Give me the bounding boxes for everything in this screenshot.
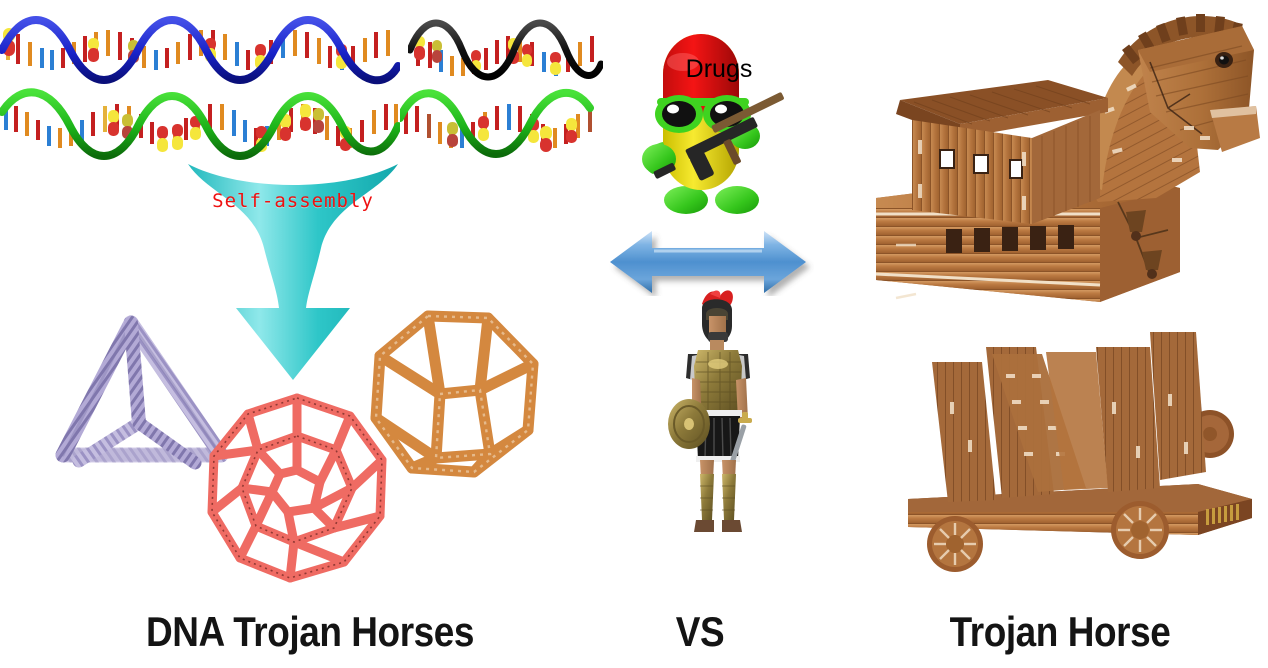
wheel-front (1111, 501, 1169, 559)
wooden-trojan-horse (850, 2, 1268, 577)
sandal-right (722, 520, 742, 532)
comparison-double-arrow (608, 228, 814, 296)
trojan-soldier-figure (662, 288, 774, 546)
horse-legs (932, 332, 1206, 502)
dna-polyhedral-cage-structure (368, 306, 543, 484)
horse-eye (1215, 52, 1233, 68)
dna-buckyball-structure (202, 392, 392, 584)
figure-canvas: Self-assembly (0, 0, 1268, 668)
caption-vs: VS (630, 608, 771, 656)
capsule-foot-left (664, 186, 708, 214)
caption-dna-trojan-horses: DNA Trojan Horses (90, 608, 530, 656)
armed-drug-capsule-character (637, 22, 802, 222)
dna-strand-blue (0, 8, 400, 88)
wheel-rear (927, 516, 983, 572)
greave-left (700, 474, 714, 520)
horse-tower (896, 80, 1108, 224)
dna-strand-green-right (400, 82, 600, 164)
sandal-left (694, 520, 714, 532)
dna-strand-black (408, 14, 603, 90)
caption-trojan-horse: Trojan Horse (884, 608, 1236, 656)
shield (668, 399, 710, 449)
capsule-foot-right (715, 186, 759, 214)
greave-right (722, 474, 736, 520)
